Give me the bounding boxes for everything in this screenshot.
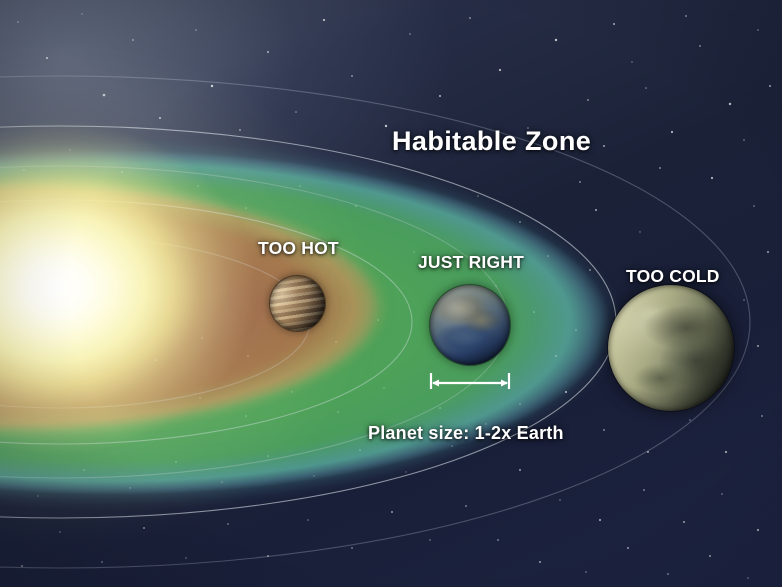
vignette-overlay	[0, 0, 782, 587]
page-title: Habitable Zone	[392, 126, 591, 157]
planet-size-measure	[428, 371, 512, 395]
too-cold-label: TOO COLD	[626, 266, 720, 287]
planet-size-caption: Planet size: 1-2x Earth	[368, 423, 564, 444]
too-hot-label: TOO HOT	[258, 238, 339, 259]
just-right-label: JUST RIGHT	[418, 252, 524, 273]
habitable-zone-illustration: Habitable Zone TOO HOT JUST RIGHT TOO CO…	[0, 0, 782, 587]
